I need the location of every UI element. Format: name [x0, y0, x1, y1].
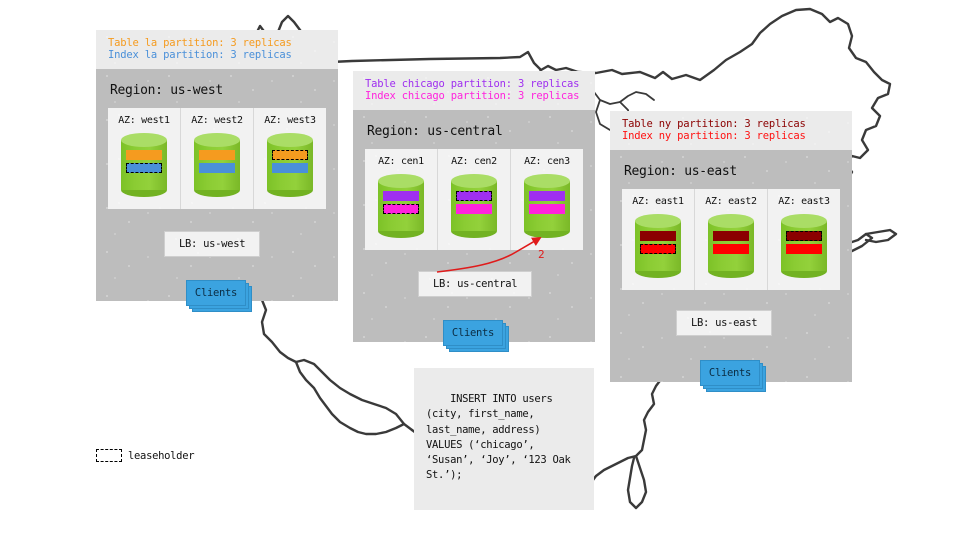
- replica-band: [713, 244, 749, 254]
- region-panel-us-west: Table la partition: 3 replicasIndex la p…: [96, 30, 338, 301]
- az-cell-cen1[interactable]: AZ: cen1: [365, 149, 437, 250]
- replica-band-leaseholder: [272, 150, 308, 160]
- sql-statement-text: INSERT INTO users (city, first_name, las…: [426, 393, 577, 481]
- cylinder-top: [451, 174, 497, 188]
- cylinder-top: [708, 214, 754, 228]
- replica-bands: [272, 150, 308, 176]
- region-title-us-west: Region: us-west: [110, 83, 326, 98]
- database-cylinder-icon: [781, 214, 827, 278]
- clients-stack-us-central[interactable]: Clients: [443, 320, 507, 350]
- replica-band-leaseholder: [126, 163, 162, 173]
- diagram-canvas: Table la partition: 3 replicasIndex la p…: [0, 0, 960, 540]
- az-cell-cen3[interactable]: AZ: cen3: [510, 149, 583, 250]
- az-cell-west2[interactable]: AZ: west2: [180, 108, 253, 209]
- leaseholder-dashed-icon: [96, 449, 122, 462]
- clients-button-us-central[interactable]: Clients: [443, 320, 503, 346]
- region-title-us-east: Region: us-east: [624, 164, 840, 179]
- az-cell-west3[interactable]: AZ: west3: [253, 108, 326, 209]
- database-cylinder-icon: [635, 214, 681, 278]
- replica-band: [199, 150, 235, 160]
- load-balancer-us-east[interactable]: LB: us-east: [676, 310, 772, 336]
- region-header-us-central: Table chicago partition: 3 replicasIndex…: [353, 71, 595, 110]
- replica-band: [786, 244, 822, 254]
- replica-bands: [199, 150, 235, 176]
- az-label: AZ: cen2: [451, 156, 497, 167]
- az-label: AZ: east3: [778, 196, 830, 207]
- clients-stack-us-west[interactable]: Clients: [186, 280, 250, 310]
- database-cylinder-icon: [524, 174, 570, 238]
- cylinder-top: [524, 174, 570, 188]
- table-partition-line-us-central: Table chicago partition: 3 replicas: [365, 78, 585, 90]
- az-label: AZ: east2: [705, 196, 757, 207]
- index-partition-line-us-west: Index la partition: 3 replicas: [108, 49, 328, 61]
- region-header-us-west: Table la partition: 3 replicasIndex la p…: [96, 30, 338, 69]
- load-balancer-us-central[interactable]: LB: us-central: [418, 271, 532, 297]
- region-header-us-east: Table ny partition: 3 replicasIndex ny p…: [610, 111, 852, 150]
- sql-statement-box: INSERT INTO users (city, first_name, las…: [414, 368, 594, 510]
- az-label: AZ: west1: [118, 115, 170, 126]
- replica-bands: [126, 150, 162, 176]
- az-label: AZ: west3: [264, 115, 316, 126]
- cylinder-top: [635, 214, 681, 228]
- region-body-us-west: Region: us-westAZ: west1AZ: west2AZ: wes…: [96, 69, 338, 301]
- cylinder-top: [781, 214, 827, 228]
- replica-band: [456, 204, 492, 214]
- cylinder-top: [267, 133, 313, 147]
- az-cell-cen2[interactable]: AZ: cen2: [437, 149, 510, 250]
- az-strip-us-west: AZ: west1AZ: west2AZ: west3: [108, 108, 326, 209]
- az-label: AZ: cen1: [378, 156, 424, 167]
- replica-bands: [383, 191, 419, 217]
- index-partition-line-us-east: Index ny partition: 3 replicas: [622, 130, 842, 142]
- database-cylinder-icon: [378, 174, 424, 238]
- az-strip-us-central: AZ: cen1AZ: cen2AZ: cen3: [365, 149, 583, 250]
- cylinder-top: [121, 133, 167, 147]
- database-cylinder-icon: [708, 214, 754, 278]
- cylinder-top: [194, 133, 240, 147]
- region-panel-us-east: Table ny partition: 3 replicasIndex ny p…: [610, 111, 852, 382]
- region-body-us-east: Region: us-eastAZ: east1AZ: east2AZ: eas…: [610, 150, 852, 382]
- annotation-step-number: 2: [538, 248, 545, 261]
- load-balancer-us-west[interactable]: LB: us-west: [164, 231, 260, 257]
- table-partition-line-us-west: Table la partition: 3 replicas: [108, 37, 328, 49]
- replica-band: [640, 231, 676, 241]
- legend: leaseholder: [96, 449, 194, 462]
- region-title-us-central: Region: us-central: [367, 124, 583, 139]
- replica-band-leaseholder: [383, 204, 419, 214]
- az-label: AZ: east1: [632, 196, 684, 207]
- database-cylinder-icon: [267, 133, 313, 197]
- az-label: AZ: cen3: [524, 156, 570, 167]
- replica-band: [529, 191, 565, 201]
- replica-band-leaseholder: [786, 231, 822, 241]
- replica-bands: [640, 231, 676, 257]
- cylinder-top: [378, 174, 424, 188]
- az-cell-east3[interactable]: AZ: east3: [767, 189, 840, 290]
- az-cell-east2[interactable]: AZ: east2: [694, 189, 767, 290]
- database-cylinder-icon: [194, 133, 240, 197]
- clients-button-us-west[interactable]: Clients: [186, 280, 246, 306]
- replica-band: [199, 163, 235, 173]
- region-panel-us-central: Table chicago partition: 3 replicasIndex…: [353, 71, 595, 342]
- az-label: AZ: west2: [191, 115, 243, 126]
- clients-stack-us-east[interactable]: Clients: [700, 360, 764, 390]
- clients-button-us-east[interactable]: Clients: [700, 360, 760, 386]
- index-partition-line-us-central: Index chicago partition: 3 replicas: [365, 90, 585, 102]
- az-cell-east1[interactable]: AZ: east1: [622, 189, 694, 290]
- table-partition-line-us-east: Table ny partition: 3 replicas: [622, 118, 842, 130]
- replica-band: [529, 204, 565, 214]
- replica-bands: [456, 191, 492, 217]
- replica-band: [713, 231, 749, 241]
- replica-band-leaseholder: [456, 191, 492, 201]
- region-body-us-central: Region: us-centralAZ: cen1AZ: cen2AZ: ce…: [353, 110, 595, 342]
- database-cylinder-icon: [451, 174, 497, 238]
- replica-band-leaseholder: [640, 244, 676, 254]
- az-cell-west1[interactable]: AZ: west1: [108, 108, 180, 209]
- replica-band: [272, 163, 308, 173]
- replica-bands: [529, 191, 565, 217]
- replica-band: [126, 150, 162, 160]
- replica-bands: [786, 231, 822, 257]
- replica-bands: [713, 231, 749, 257]
- replica-band: [383, 191, 419, 201]
- az-strip-us-east: AZ: east1AZ: east2AZ: east3: [622, 189, 840, 290]
- database-cylinder-icon: [121, 133, 167, 197]
- legend-label: leaseholder: [128, 450, 194, 462]
